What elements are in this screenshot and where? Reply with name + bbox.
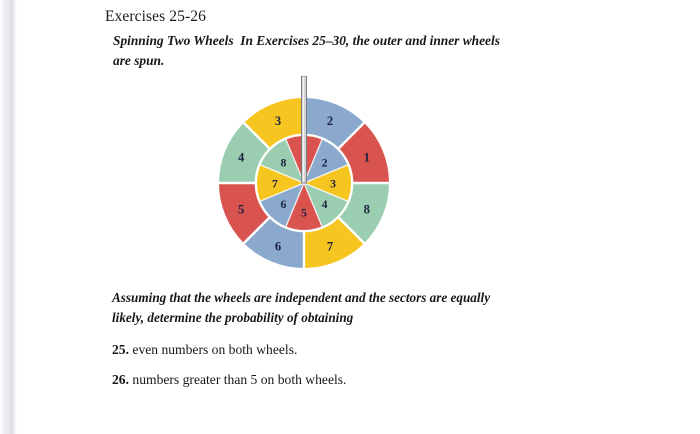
inner-sector-label-8: 8 (280, 156, 286, 170)
inner-sector-label-3: 3 (330, 176, 336, 190)
needle-highlight (303, 77, 304, 182)
inner-sector-label-4: 4 (322, 197, 328, 211)
spinner-needle[interactable] (302, 76, 307, 183)
inner-sector-label-6: 6 (280, 197, 286, 211)
outer-sector-label-5: 5 (238, 203, 244, 217)
outer-sector-label-8: 8 (364, 203, 370, 217)
outer-sector-label-2: 2 (327, 114, 333, 128)
textbook-page: Exercises 25-26 Spinning Two Wheels In E… (0, 0, 700, 434)
outer-sector-label-3: 3 (275, 114, 281, 128)
spinner-diagram: 21876543 12345678 (213, 76, 395, 268)
inner-sector-label-2: 2 (322, 156, 328, 170)
question-25: 25. even numbers on both wheels. (112, 342, 297, 358)
question-26-number: 26. (112, 372, 129, 387)
question-26-text: numbers greater than 5 on both wheels. (132, 372, 346, 387)
outer-sector-label-6: 6 (275, 239, 281, 253)
outer-sector-label-7: 7 (327, 239, 333, 253)
question-25-number: 25. (112, 342, 129, 357)
inner-sector-label-7: 7 (272, 176, 278, 190)
inner-sector-label-5: 5 (301, 205, 307, 219)
exercise-prompt: Spinning Two Wheels In Exercises 25–30, … (113, 31, 505, 70)
outer-sector-label-4: 4 (238, 151, 245, 165)
assumption-text: Assuming that the wheels are independent… (112, 288, 512, 328)
double-wheel-spinner-figure: 21876543 12345678 (213, 76, 395, 268)
question-25-text: even numbers on both wheels. (132, 342, 297, 357)
exercise-prompt-title: Spinning Two Wheels (113, 33, 234, 48)
question-26: 26. numbers greater than 5 on both wheel… (112, 372, 346, 388)
outer-sector-label-1: 1 (364, 151, 370, 165)
page-title: Exercises 25-26 (105, 8, 206, 26)
